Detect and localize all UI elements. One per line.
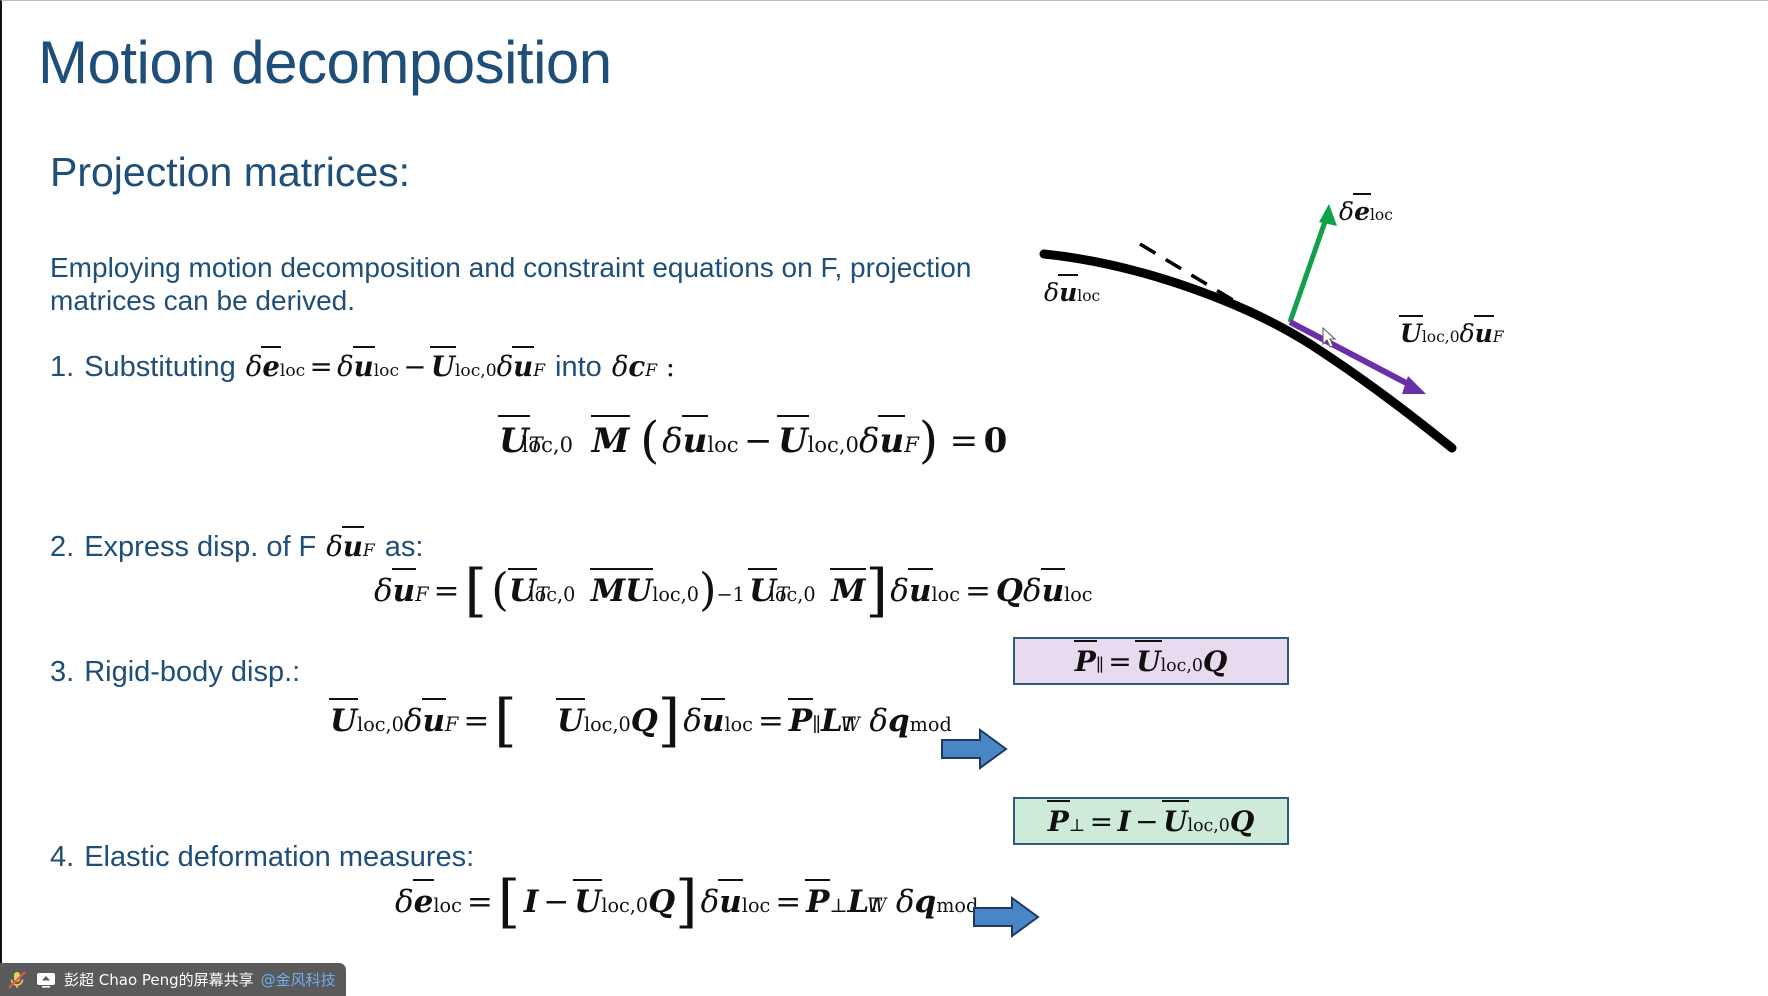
- step-4-number: 4.: [50, 841, 74, 874]
- screen-share-icon[interactable]: [35, 970, 57, 990]
- step-1-inline-math: δeloc = δuloc − Uloc,0δuF: [246, 351, 545, 383]
- screen-share-tag: @金风科技: [261, 969, 336, 990]
- result-box-parallel: P∥ = Uloc,0Q: [1013, 637, 1289, 685]
- result-box-perpendicular: P⊥ = I − Uloc,0Q: [1013, 797, 1289, 845]
- figure-label-delta-u-loc: δuloc: [1044, 278, 1100, 307]
- step-1-tail: into: [555, 351, 602, 384]
- page-title: Motion decomposition: [38, 31, 612, 94]
- step-4: 4. Elastic deformation measures:: [50, 841, 474, 874]
- step-1-number: 1.: [50, 351, 74, 384]
- figure-label-U-loc0-delta-u-F: Uloc,0δuF: [1400, 319, 1504, 348]
- step-2-number: 2.: [50, 531, 74, 564]
- equation-4: δeloc = [ I − Uloc,0Q ] δuloc = P⊥ LTW δ…: [395, 884, 978, 920]
- equation-3: Uloc,0δuF = [ Uloc,0Q ] δuloc = P∥ LTW δ…: [330, 703, 952, 739]
- equation-1: UTloc,0 M ( δuloc − Uloc,0δuF ) = 0: [499, 421, 1007, 461]
- intro-paragraph: Employing motion decomposition and const…: [50, 251, 1010, 317]
- step-2-inline-math: δuF: [326, 531, 374, 563]
- step-1: 1. Substituting δeloc = δuloc − Uloc,0δu…: [50, 351, 675, 384]
- step-1-tail-math: δcF :: [612, 351, 675, 383]
- microphone-muted-icon[interactable]: [6, 969, 28, 991]
- step-2-label: Express disp. of F: [84, 531, 316, 564]
- step-1-label: Substituting: [84, 351, 236, 384]
- equation-2: δuF = [ ( UTloc,0 MUloc,0 )−1 UTloc,0 M …: [374, 573, 1093, 609]
- screen-share-statusbar: 彭超 Chao Peng的屏幕共享 @金风科技: [0, 963, 346, 996]
- arrow-to-perp-icon: [972, 896, 1040, 938]
- step-3-label: Rigid-body disp.:: [84, 656, 300, 689]
- arrow-to-parallel-icon: [940, 728, 1008, 770]
- figure-label-delta-e-loc: δeloc: [1339, 197, 1393, 226]
- slide-canvas: Motion decomposition Projection matrices…: [0, 0, 1768, 996]
- mouse-cursor-icon: [1322, 327, 1338, 354]
- step-4-label: Elastic deformation measures:: [84, 841, 474, 874]
- step-2: 2. Express disp. of F δuF as:: [50, 531, 423, 564]
- step-3-number: 3.: [50, 656, 74, 689]
- screen-share-owner-text: 彭超 Chao Peng的屏幕共享: [64, 969, 254, 990]
- step-3: 3. Rigid-body disp.:: [50, 656, 300, 689]
- step-2-tail: as:: [385, 531, 424, 564]
- section-heading: Projection matrices:: [50, 149, 410, 196]
